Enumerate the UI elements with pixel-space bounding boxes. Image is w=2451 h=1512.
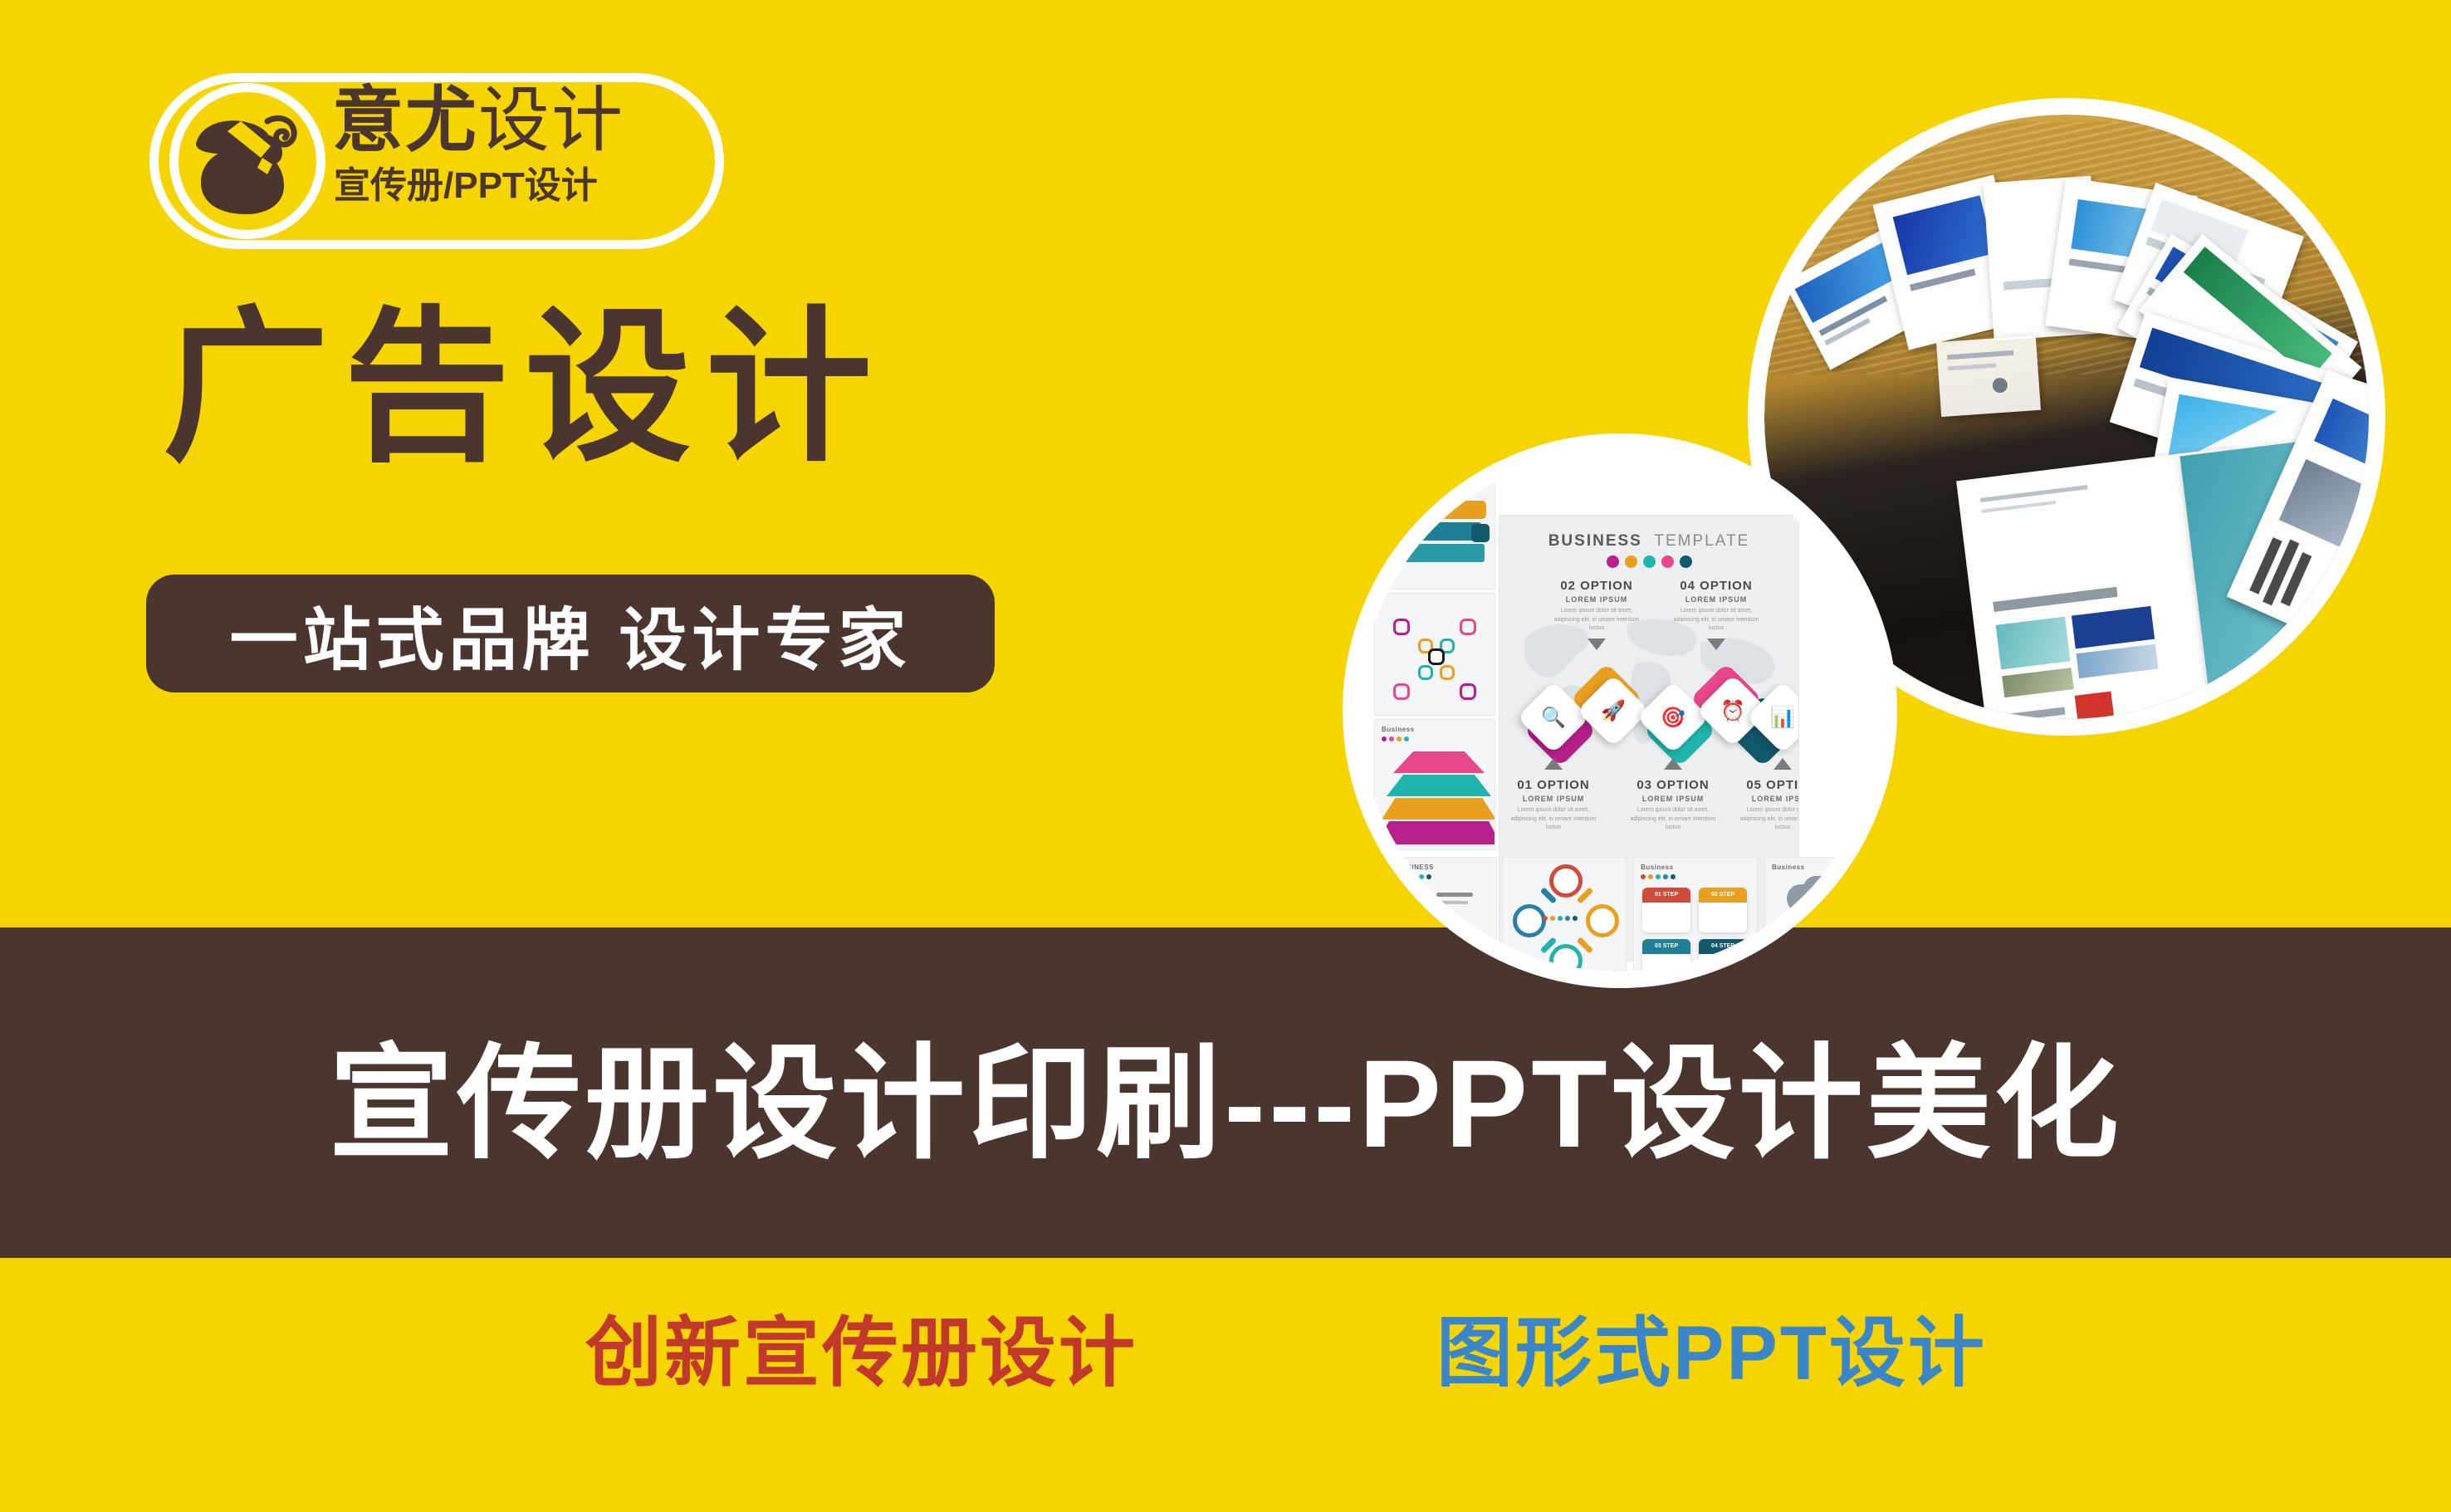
option-05: 05 OPTION LOREM IPSUM Lorem ipsum dolor …: [1737, 778, 1799, 833]
card-holder: [1936, 335, 2041, 417]
thumb-banner-rows: [1374, 483, 1495, 590]
logo-tagline: 宣传册/PPT设计: [334, 168, 598, 204]
cycle-node: [1549, 864, 1583, 898]
poster-root: 意尤设计 宣传册/PPT设计 广告设计 一站式品牌 设计专家: [0, 0, 2451, 1512]
option-03: 03 OPTION LOREM IPSUM Lorem ipsum dolor …: [1627, 778, 1719, 833]
rocket-icon: 🚀: [1588, 685, 1639, 736]
template-color-dots: [1499, 555, 1798, 568]
thumb-title: Business: [1641, 864, 1674, 871]
logo-text-block: 意尤设计 宣传册/PPT设计: [332, 81, 722, 244]
option-02: 02 OPTION LOREM IPSUM Lorem ipsum dolor …: [1551, 579, 1642, 634]
yiyou-bird-seed-logo-icon: [191, 106, 304, 216]
thumb-cross-icons: [1374, 593, 1495, 716]
pointer-up-icon: [1544, 758, 1563, 770]
tag-left: 创新宣传册设计: [585, 1291, 1137, 1402]
pointer-down-icon: [1588, 639, 1606, 650]
thumb-cone-funnel: Business: [1374, 719, 1495, 850]
ppt-template-collage-circle: Business BUSINESS TEMPLATE: [1343, 433, 1897, 988]
thumb-title: BUSINESS: [1397, 864, 1434, 871]
logo-brand-bold: 意尤: [332, 81, 478, 160]
thumb-title: Business: [1772, 864, 1805, 871]
pointer-up-icon: [1664, 758, 1682, 770]
subtitle-pill-label: 一站式品牌 设计专家: [230, 585, 912, 683]
band-headline-label: 宣传册设计印刷---PPT设计美化: [329, 1003, 2122, 1183]
target-icon: 🎯: [1647, 692, 1699, 743]
logo-brand-thin: 设计: [478, 81, 624, 160]
logo-brand-name: 意尤设计: [332, 85, 624, 156]
subtitle-pill: 一站式品牌 设计专家: [146, 575, 995, 692]
template-title: BUSINESS TEMPLATE: [1499, 532, 1798, 550]
pointer-down-icon: [1707, 639, 1725, 650]
tag-right: 图形式PPT设计: [1436, 1291, 1987, 1402]
bottom-tag-row: 创新宣传册设计 图形式PPT设计: [0, 1291, 2451, 1424]
pointer-up-icon: [1773, 758, 1792, 770]
step-card: 02 STEP: [1699, 888, 1747, 932]
option-04: 04 OPTION LOREM IPSUM Lorem ipsum dolor …: [1671, 579, 1762, 634]
presentation-icon: 📊: [1757, 692, 1799, 743]
option-01: 01 OPTION LOREM IPSUM Lorem ipsum dolor …: [1508, 778, 1599, 833]
band-headline: 宣传册设计印刷---PPT设计美化: [0, 927, 2451, 1258]
page-title: 广告设计: [163, 306, 887, 472]
thumb-title: Business: [1382, 726, 1415, 733]
step-card: 01 STEP: [1642, 888, 1690, 932]
magnifier-icon: 🔍: [1528, 692, 1579, 743]
clock-icon: ⏰: [1707, 685, 1759, 736]
